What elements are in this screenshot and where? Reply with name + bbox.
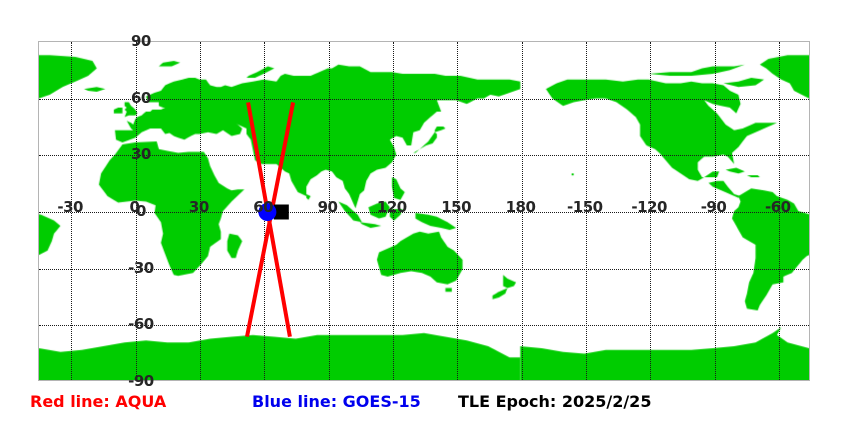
- legend: Red line: AQUA Blue line: GOES-15 TLE Ep…: [0, 392, 850, 425]
- legend-red-line-aqua: Red line: AQUA: [30, 392, 166, 411]
- legend-blue-line-goes15: Blue line: GOES-15: [252, 392, 421, 411]
- world-map-plot: [38, 41, 810, 381]
- legend-tle-epoch: TLE Epoch: 2025/2/25: [458, 392, 651, 411]
- world-landmass-layer: [39, 42, 809, 380]
